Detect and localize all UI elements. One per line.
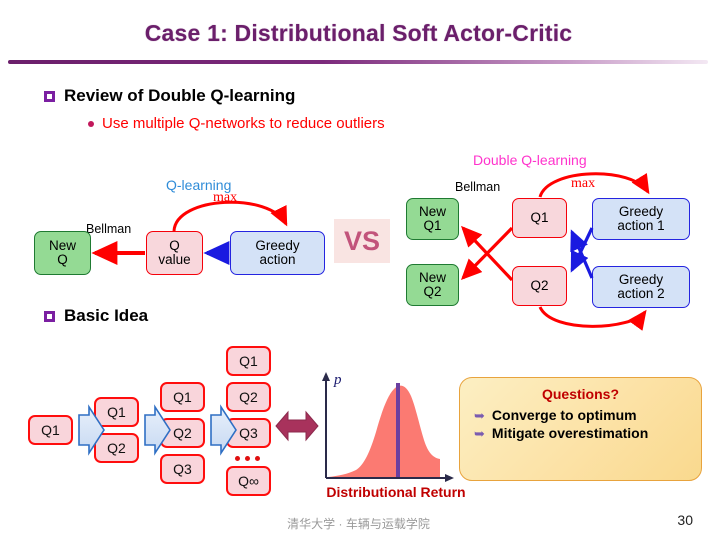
node-greedy-action-1-line1: Greedy [619,205,663,219]
chart-y-axis-label: p [334,372,342,389]
qchain-ellipsis-icon [235,456,260,461]
bullet-label: Use multiple Q-networks to reduce outlie… [102,115,385,132]
qchain-stage4-item4: Q∞ [226,466,271,496]
title-divider [8,60,708,64]
chart-x-axis-label: Distributional Return [296,484,496,500]
qchain-stage2-item1: Q1 [94,397,139,427]
qchain-stage4-item3: Q3 [226,418,271,448]
qchain-stage3-item3: Q3 [160,454,205,484]
node-q-value: Q value [146,231,203,275]
arrow-bullet-icon-2: ➥ [474,427,485,440]
node-greedy-action: Greedy action [230,231,325,275]
node-new-q1-line1: New [419,205,446,219]
section-heading-label: Review of Double Q-learning [64,86,295,106]
qchain-stage3-item2: Q2 [160,418,205,448]
node-new-q-line2: Q [57,253,68,267]
page-title: Case 1: Distributional Soft Actor-Critic [0,20,717,47]
node-greedy-action-2-line1: Greedy [619,273,663,287]
dot-bullet-icon [88,121,94,127]
questions-panel-title: Questions? [470,386,691,402]
node-new-q: New Q [34,231,91,275]
node-q2-label: Q2 [530,279,548,293]
section-heading-label-2: Basic Idea [64,306,148,326]
edge-label-max-right: max [571,176,595,192]
node-new-q1-line2: Q1 [423,219,441,233]
node-greedy-action-2-line2: action 2 [617,287,664,301]
node-new-q2: New Q2 [406,264,459,306]
node-greedy-action-line2: action [259,253,295,267]
node-new-q1: New Q1 [406,198,459,240]
slide-canvas: Case 1: Distributional Soft Actor-Critic… [0,0,717,538]
qchain-stage3-item1: Q1 [160,382,205,412]
section-heading-basic-idea: Basic Idea [44,306,148,326]
questions-panel: Questions? ➥ Converge to optimum ➥ Mitig… [459,377,702,481]
qchain-stage1-item1: Q1 [28,415,73,445]
node-new-q2-line1: New [419,271,446,285]
section-heading-review: Review of Double Q-learning [44,86,295,106]
node-q1: Q1 [512,198,567,238]
node-q1-label: Q1 [530,211,548,225]
node-greedy-action-1: Greedy action 1 [592,198,690,240]
qchain-stage4-item1: Q1 [226,346,271,376]
node-q-value-line2: value [158,253,190,267]
footer-organization: 清华大学 · 车辆与运载学院 [0,515,717,532]
diagram-right-caption: Double Q-learning [473,152,587,168]
node-greedy-action-line1: Greedy [255,239,299,253]
page-number: 30 [677,512,693,528]
square-bullet-icon [44,91,55,102]
edge-label-max-left: max [213,190,237,206]
questions-panel-item-1: ➥ Converge to optimum [474,407,691,423]
edge-label-bellman-left: Bellman [86,222,131,236]
bullet-item-multiple-q-networks: Use multiple Q-networks to reduce outlie… [88,115,385,132]
node-new-q2-line2: Q2 [423,285,441,299]
questions-panel-item-2: ➥ Mitigate overestimation [474,425,691,441]
edge-label-bellman-right: Bellman [455,180,500,194]
square-bullet-icon-2 [44,311,55,322]
node-greedy-action-2: Greedy action 2 [592,266,690,308]
questions-panel-item-1-label: Converge to optimum [492,407,637,423]
questions-panel-item-2-label: Mitigate overestimation [492,425,648,441]
arrow-bullet-icon: ➥ [474,409,485,422]
qchain-stage2-item2: Q2 [94,433,139,463]
qchain-stage4-item2: Q2 [226,382,271,412]
vs-badge: VS [334,219,390,263]
node-q-value-line1: Q [169,239,180,253]
node-greedy-action-1-line2: action 1 [617,219,664,233]
node-new-q-line1: New [49,239,76,253]
node-q2: Q2 [512,266,567,306]
